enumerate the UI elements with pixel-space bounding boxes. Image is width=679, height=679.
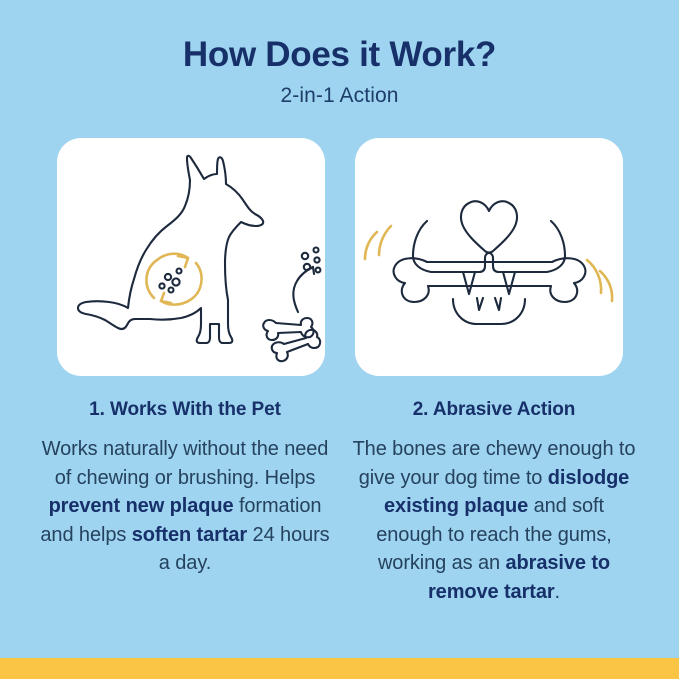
card-abrasive-action xyxy=(355,138,623,376)
sitting-dog-with-bones-illustration xyxy=(57,138,325,376)
column-works-with-the-pet: 1. Works With the Pet Works naturally wi… xyxy=(40,398,330,606)
page-subtitle: 2-in-1 Action xyxy=(0,82,679,110)
bottom-accent-band xyxy=(0,658,679,679)
infographic-page: How Does it Work? 2-in-1 Action xyxy=(0,0,679,679)
card-works-with-the-pet xyxy=(57,138,325,376)
illustration-cards xyxy=(57,138,623,376)
column-1-body: Works naturally without the need of chew… xyxy=(40,435,330,578)
column-1-heading: 1. Works With the Pet xyxy=(40,398,330,422)
text-columns: 1. Works With the Pet Works naturally wi… xyxy=(40,398,639,606)
dog-muzzle-chewing-bone-illustration xyxy=(355,138,623,376)
page-title: How Does it Work? xyxy=(0,34,679,76)
column-abrasive-action: 2. Abrasive Action The bones are chewy e… xyxy=(349,398,639,606)
header: How Does it Work? 2-in-1 Action xyxy=(0,34,679,110)
column-2-body: The bones are chewy enough to give your … xyxy=(349,435,639,606)
column-2-heading: 2. Abrasive Action xyxy=(349,398,639,422)
